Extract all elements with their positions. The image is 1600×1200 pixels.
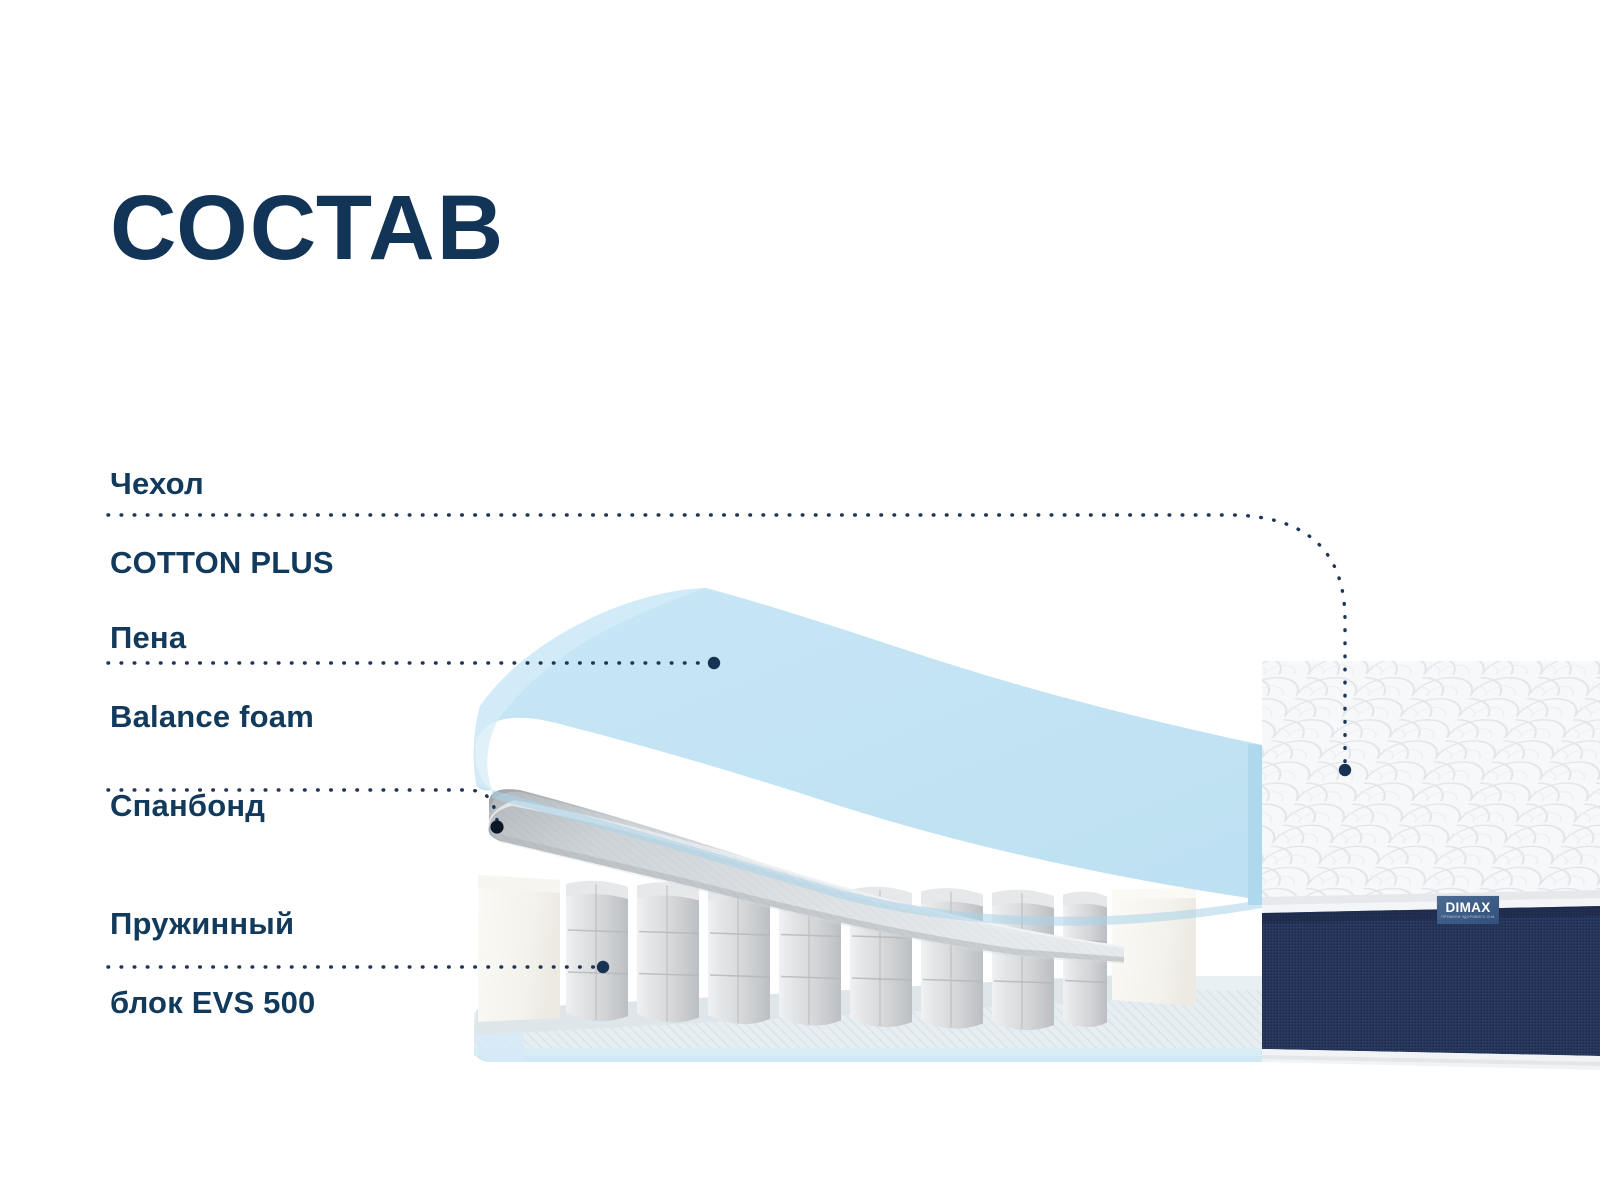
label-foam-line2: Balance foam [110,697,314,737]
brand-name: DIMAX [1446,901,1491,915]
brand-tagline: ПРЕМИУМ ЗДОРОВОГО СНА [1441,916,1494,919]
label-cover-line2: COTTON PLUS [110,543,334,583]
label-spring-line1: Пружинный [110,904,316,944]
label-foam-line1: Пена [110,618,314,658]
label-spanbond: Спанбонд [110,746,265,865]
label-spring-line2: блок EVS 500 [110,983,316,1023]
brand-tag: DIMAX ПРЕМИУМ ЗДОРОВОГО СНА [1437,896,1499,924]
layer-cover-quilt [1262,655,1600,913]
slide-canvas: СОСТАВ [0,0,1600,1200]
label-spring-block: Пружинный блок EVS 500 [110,864,316,1062]
label-cover-line1: Чехол [110,464,334,504]
layer-side-panel [1262,906,1600,1070]
label-spanbond-line1: Спанбонд [110,786,265,826]
